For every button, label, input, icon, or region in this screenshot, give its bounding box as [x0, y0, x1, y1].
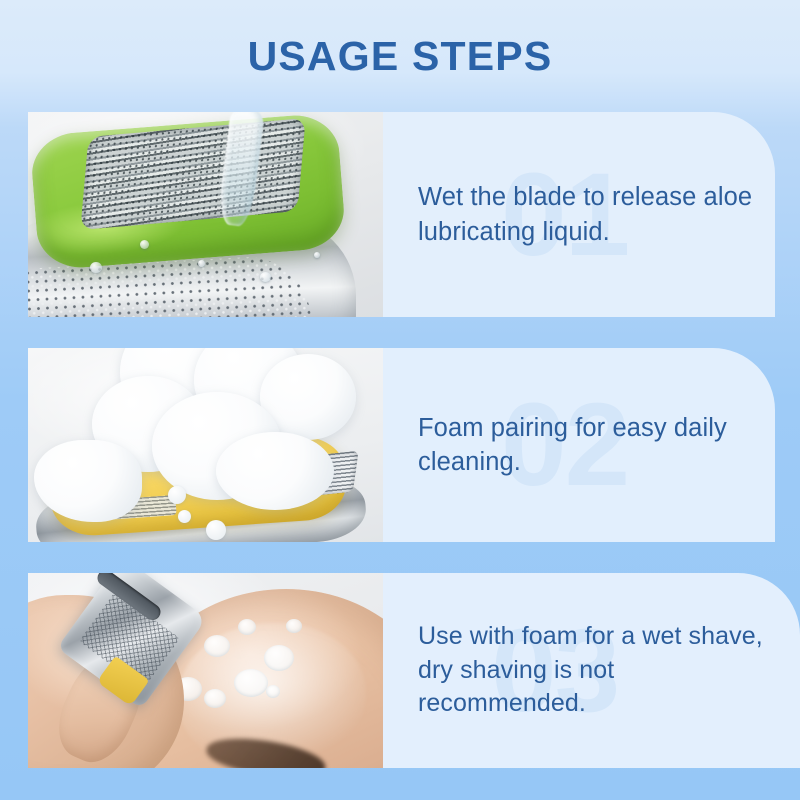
usage-steps-infographic: USAGE STEPS 01 Wet the blade to release …: [0, 0, 800, 800]
step-2-photo: [28, 348, 383, 542]
foam-bubble: [204, 635, 230, 657]
water-droplet: [314, 252, 320, 258]
foam-bubble: [286, 619, 302, 633]
water-droplet: [90, 262, 102, 273]
step-2-description: Foam pairing for easy daily cleaning.: [418, 411, 757, 479]
step-card-2: 02 Foam pairing for easy daily cleaning.: [28, 348, 775, 542]
foam-bubble: [238, 619, 256, 635]
step-2-text-pane: 02 Foam pairing for easy daily cleaning.: [383, 348, 775, 542]
foam-bubble: [168, 486, 186, 504]
step-1-photo: [28, 112, 383, 317]
step-card-3: 03 Use with foam for a wet shave, dry sh…: [28, 573, 800, 768]
title-bar: USAGE STEPS: [0, 0, 800, 112]
blade-plate: [80, 118, 305, 230]
step-3-photo: [28, 573, 383, 768]
step-1-text-pane: 01 Wet the blade to release aloe lubrica…: [383, 112, 775, 317]
water-droplet: [140, 240, 149, 249]
foam-bubble: [178, 510, 191, 523]
foam-blob: [216, 432, 334, 510]
foam-bubble: [204, 689, 226, 708]
step-3-description: Use with foam for a wet shave, dry shavi…: [418, 620, 782, 721]
foam-bubble: [266, 685, 280, 698]
step-1-description: Wet the blade to release aloe lubricatin…: [418, 180, 757, 248]
step-3-text-pane: 03 Use with foam for a wet shave, dry sh…: [383, 573, 800, 768]
water-droplet: [198, 260, 205, 267]
foam-bubble: [234, 669, 268, 697]
foam-bubble: [264, 645, 294, 671]
foam-bubble: [206, 520, 226, 540]
water-droplet: [260, 272, 271, 282]
page-title: USAGE STEPS: [248, 33, 553, 80]
step-card-1: 01 Wet the blade to release aloe lubrica…: [28, 112, 775, 317]
